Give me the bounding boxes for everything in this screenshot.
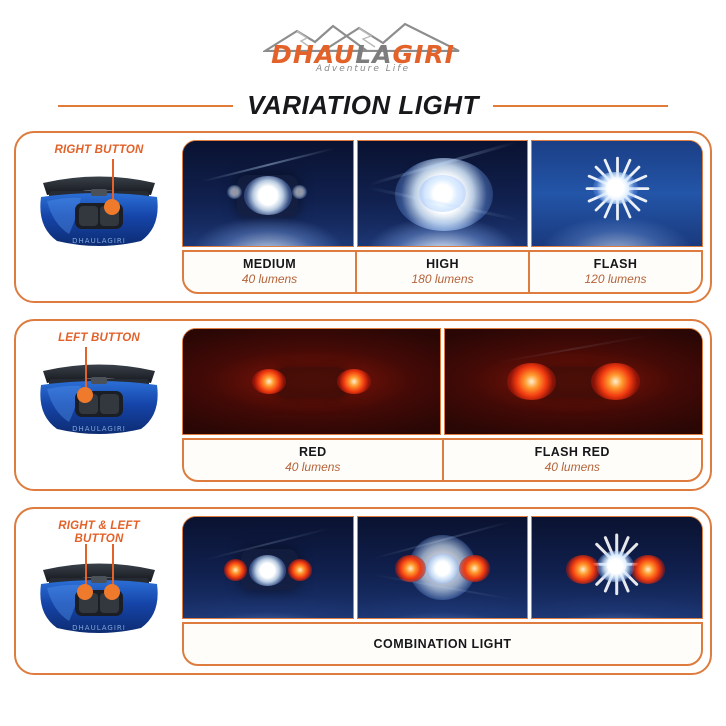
brand-logo: DHAULAGIRI Adventure Life [245, 22, 481, 76]
media-area-3: COMBINATION LIGHT [182, 516, 703, 666]
mode-lumens-flash: 120 lumens [584, 273, 646, 287]
light-preview-flash [531, 140, 703, 247]
label-strip-2: RED 40 lumens FLASH RED 40 lumens [182, 438, 703, 482]
combination-light-label: COMBINATION LIGHT [184, 624, 701, 664]
headlamp-illustration-3: DHAULAGIRI [29, 548, 169, 644]
mode-lumens-high: 180 lumens [411, 273, 473, 287]
mode-lumens-flash-red: 40 lumens [545, 461, 600, 475]
mode-lumens-red: 40 lumens [285, 461, 340, 475]
media-strip-1 [182, 140, 703, 247]
variation-rows: RIGHT BUTTON [0, 121, 726, 675]
mode-name-medium: MEDIUM [243, 257, 296, 271]
label-flash-red: FLASH RED 40 lumens [444, 440, 702, 480]
scene-combo-3 [532, 517, 702, 618]
media-strip-2 [182, 328, 703, 435]
callout-label-3: RIGHT & LEFT BUTTON [58, 520, 140, 546]
scene-combo-1 [183, 517, 353, 618]
media-area-2: RED 40 lumens FLASH RED 40 lumens [182, 328, 703, 482]
title-rule-left [58, 105, 233, 107]
button-marker-right-3 [104, 584, 120, 600]
row-combination: RIGHT & LEFT BUTTON DHAULAGIRI [14, 507, 712, 675]
mode-name-flash: FLASH [594, 257, 638, 271]
callout-label-1: RIGHT BUTTON [54, 144, 143, 157]
light-preview-combo-1 [182, 516, 354, 619]
headlamp-image-1: DHAULAGIRI [29, 161, 169, 257]
mode-name-red: RED [299, 445, 327, 459]
light-preview-flash-red [444, 328, 703, 435]
callout-line-1: RIGHT & LEFT [58, 520, 140, 532]
media-area-1: MEDIUM 40 lumens HIGH 180 lumens FLASH 1… [182, 140, 703, 294]
title-rule-right [493, 105, 668, 107]
mode-lumens-medium: 40 lumens [242, 273, 297, 287]
headlamp-illustration-1: DHAULAGIRI [29, 161, 169, 257]
label-medium: MEDIUM 40 lumens [184, 252, 357, 292]
scene-high [358, 141, 528, 246]
scene-combo-2 [358, 517, 528, 618]
row-left-button: LEFT BUTTON DHAULAGIRI [14, 319, 712, 491]
page-title: VARIATION LIGHT [247, 90, 479, 121]
leader-line-1 [112, 159, 114, 205]
headlamp-illustration-2: DHAULAGIRI [29, 349, 169, 445]
light-preview-high [357, 140, 529, 247]
brand-tagline: Adventure Life [245, 64, 481, 74]
callout-label-2: LEFT BUTTON [58, 332, 140, 345]
svg-text:DHAULAGIRI: DHAULAGIRI [72, 624, 126, 632]
button-marker-left-2 [77, 387, 93, 403]
button-marker-left-3 [77, 584, 93, 600]
mode-name-high: HIGH [426, 257, 459, 271]
callout-line-2: BUTTON [75, 533, 124, 545]
page-header: DHAULAGIRI Adventure Life [0, 0, 726, 86]
row-right-button: RIGHT BUTTON [14, 131, 712, 303]
product-panel-1: RIGHT BUTTON [23, 140, 175, 294]
leader-line-3a [85, 544, 87, 588]
product-panel-3: RIGHT & LEFT BUTTON DHAULAGIRI [23, 516, 175, 666]
product-panel-2: LEFT BUTTON DHAULAGIRI [23, 328, 175, 482]
page-title-row: VARIATION LIGHT [0, 90, 726, 121]
leader-line-3b [112, 544, 114, 588]
headlamp-image-2: DHAULAGIRI [29, 349, 169, 445]
label-high: HIGH 180 lumens [357, 252, 530, 292]
light-preview-medium [182, 140, 354, 247]
button-marker-right-1 [104, 199, 120, 215]
label-strip-3: COMBINATION LIGHT [182, 622, 703, 666]
light-preview-combo-2 [357, 516, 529, 619]
label-flash: FLASH 120 lumens [530, 252, 701, 292]
svg-text:DHAULAGIRI: DHAULAGIRI [72, 237, 126, 245]
leader-line-2 [85, 347, 87, 393]
scene-flash-red [445, 329, 702, 434]
scene-flash [532, 141, 702, 246]
light-preview-combo-3 [531, 516, 703, 619]
scene-medium [183, 141, 353, 246]
headlamp-image-3: DHAULAGIRI [29, 548, 169, 644]
mode-name-flash-red: FLASH RED [535, 445, 610, 459]
svg-text:DHAULAGIRI: DHAULAGIRI [72, 425, 126, 433]
label-red: RED 40 lumens [184, 440, 444, 480]
label-strip-1: MEDIUM 40 lumens HIGH 180 lumens FLASH 1… [182, 250, 703, 294]
media-strip-3 [182, 516, 703, 619]
scene-red [183, 329, 440, 434]
light-preview-red [182, 328, 441, 435]
